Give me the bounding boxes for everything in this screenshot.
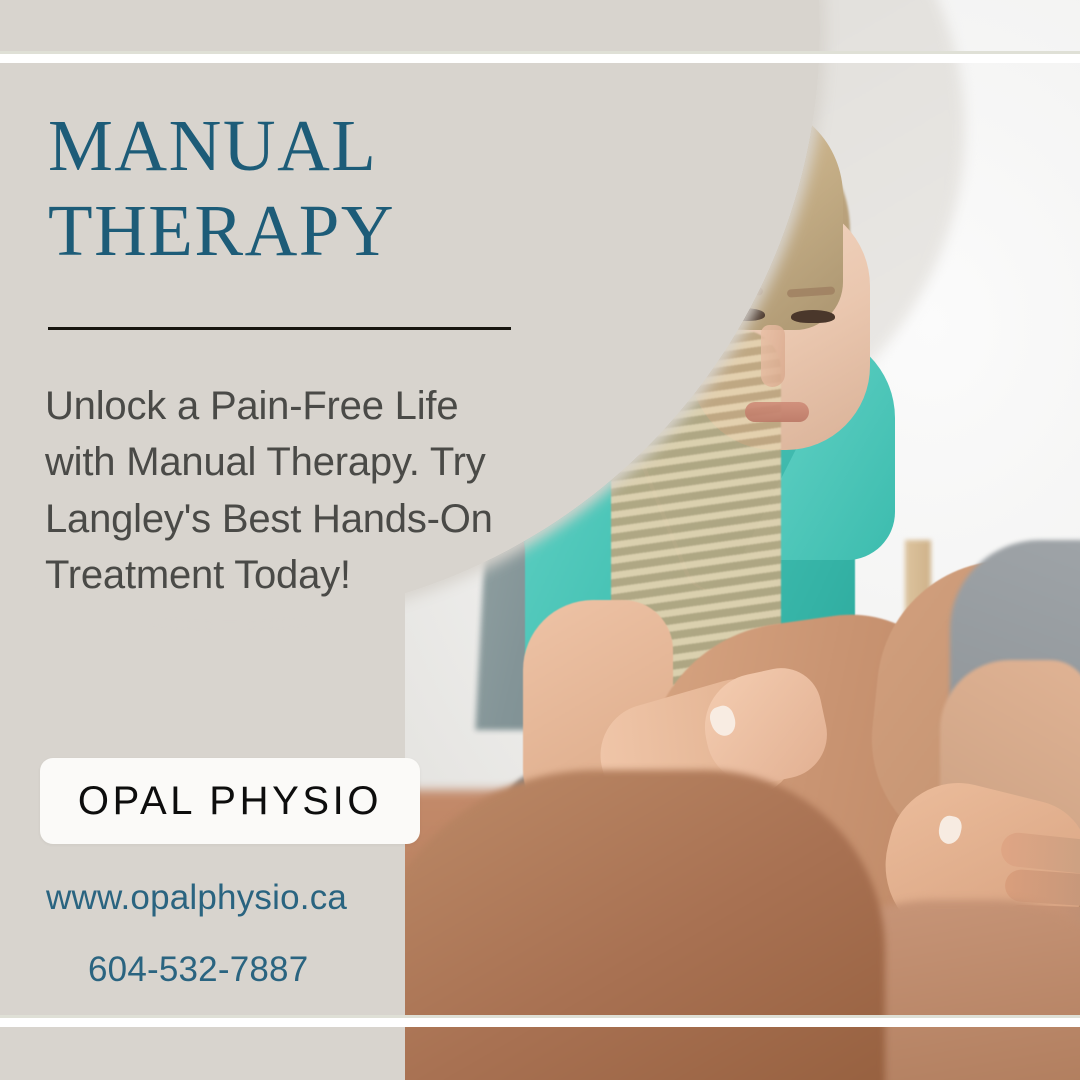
subheadline-text: Unlock a Pain-Free Life with Manual Ther… bbox=[45, 378, 497, 604]
text-column: MANUALTHERAPY Unlock a Pain-Free Life wi… bbox=[0, 0, 420, 1080]
therapist-nose bbox=[761, 325, 785, 387]
page-title-line-2: THERAPY bbox=[48, 190, 395, 271]
therapist-eye-right bbox=[791, 310, 835, 323]
therapy-photo: G bbox=[405, 0, 1080, 1080]
therapist-mouth bbox=[745, 402, 809, 422]
title-divider bbox=[48, 327, 511, 330]
therapist-eye-left bbox=[721, 308, 765, 321]
brand-cta-button[interactable]: OPAL PHYSIO bbox=[40, 758, 420, 844]
phone-number[interactable]: 604-532-7887 bbox=[88, 950, 308, 990]
page-title: MANUALTHERAPY bbox=[48, 104, 468, 273]
promo-poster: G bbox=[0, 0, 1080, 1080]
brand-cta-label: OPAL PHYSIO bbox=[78, 779, 382, 824]
page-title-line-1: MANUAL bbox=[48, 105, 377, 186]
website-link[interactable]: www.opalphysio.ca bbox=[46, 878, 347, 918]
patient-foreground-limb bbox=[405, 770, 885, 1080]
